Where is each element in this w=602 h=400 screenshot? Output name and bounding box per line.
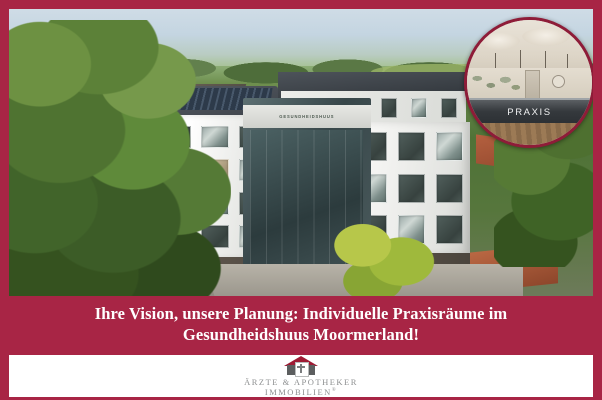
logo-text-immobilien: IMMOBILIEN bbox=[265, 387, 332, 397]
headline-line-1: Ihre Vision, unsere Planung: Individuell… bbox=[95, 303, 508, 324]
headline-banner: Ihre Vision, unsere Planung: Individuell… bbox=[0, 296, 602, 352]
registered-trademark-mark: ® bbox=[332, 388, 337, 393]
foreground-tree-left bbox=[9, 20, 231, 296]
headline-line-2: Gesundheidshuus Moormerland! bbox=[183, 324, 419, 345]
wooden-floor bbox=[467, 123, 592, 146]
photo-frame: GESUNDHEIDSHUUS bbox=[0, 0, 602, 296]
window bbox=[441, 98, 458, 118]
ceiling-light-oval bbox=[522, 28, 570, 47]
logo-text-line-1: ÄRZTE & APOTHEKER bbox=[244, 377, 358, 387]
foreground-shrub bbox=[324, 221, 452, 296]
window bbox=[436, 174, 463, 203]
window bbox=[411, 98, 428, 118]
building-sign: GESUNDHEIDSHUUS bbox=[243, 105, 371, 128]
wall-decoration bbox=[470, 70, 523, 98]
logo-door bbox=[295, 362, 309, 377]
praxis-label: PRAXIS bbox=[507, 107, 551, 118]
building-photo: GESUNDHEIDSHUUS bbox=[9, 9, 593, 296]
logo-bar-frame: ÄRZTE & APOTHEKER IMMOBILIEN® bbox=[0, 352, 602, 400]
window bbox=[398, 132, 425, 161]
practice-interior-inset: PRAXIS bbox=[464, 17, 593, 148]
reception-counter: PRAXIS bbox=[467, 98, 592, 125]
logo-bar: ÄRZTE & APOTHEKER IMMOBILIEN® bbox=[9, 355, 593, 397]
ceiling-light-oval bbox=[477, 33, 520, 51]
window bbox=[436, 132, 463, 161]
logo-cross-horizontal bbox=[297, 366, 305, 368]
house-with-medical-cross-icon bbox=[284, 356, 318, 375]
window bbox=[381, 98, 398, 118]
logo-text-line-2: IMMOBILIEN® bbox=[265, 387, 337, 397]
window bbox=[398, 174, 425, 203]
marketing-banner: GESUNDHEIDSHUUS bbox=[0, 0, 602, 400]
building-sign-label: GESUNDHEIDSHUUS bbox=[279, 114, 334, 119]
